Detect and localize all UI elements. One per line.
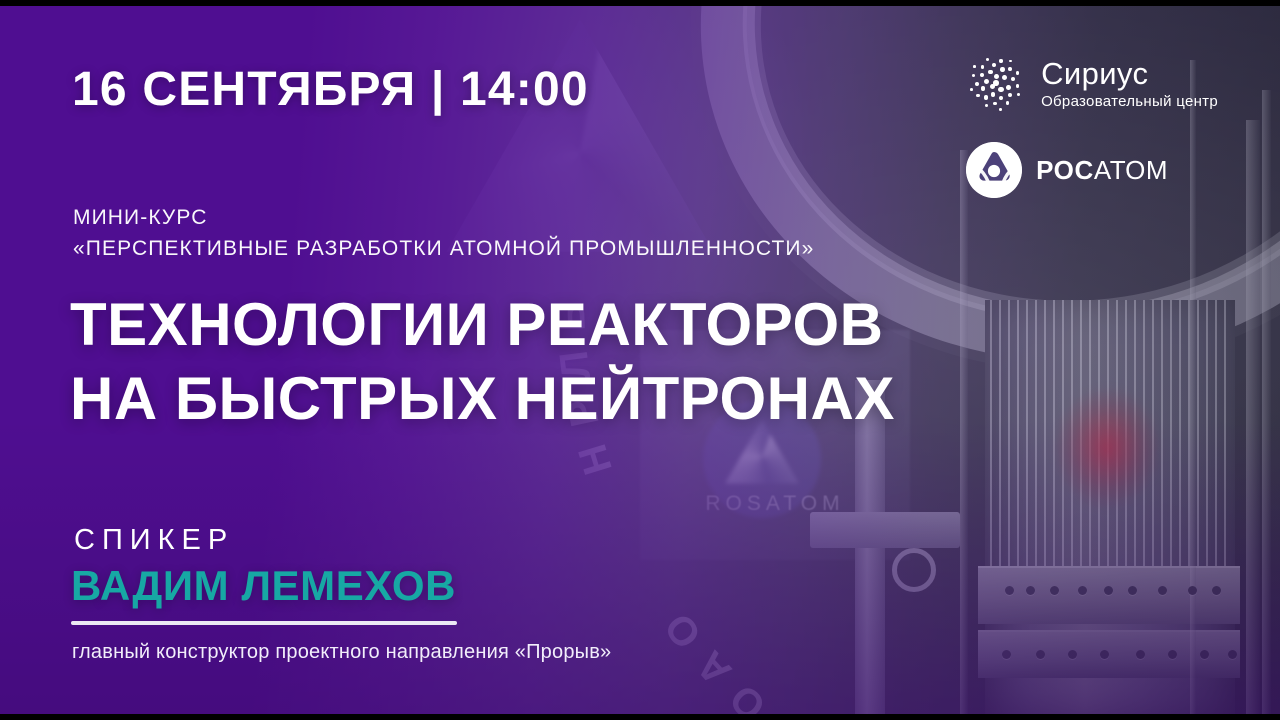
event-date-time: 16 СЕНТЯБРЯ | 14:00 [72,62,589,117]
speaker-role: главный конструктор проектного направлен… [72,641,611,664]
promo-banner: ОАО НРЛЬ ROSATOM 16 СЕНТЯБРЯ | 14:00 МИН… [0,0,1280,720]
headline-line-1: ТЕХНОЛОГИИ РЕАКТОРОВ [70,288,895,362]
course-kicker: МИНИ-КУРС «ПЕРСПЕКТИВНЫЕ РАЗРАБОТКИ АТОМ… [73,202,814,264]
sirius-dots-icon [965,52,1027,114]
logo-group: Сириус Образовательный центр РОСАТОМ [965,52,1218,198]
kicker-line-2: «ПЕРСПЕКТИВНЫЕ РАЗРАБОТКИ АТОМНОЙ ПРОМЫШ… [73,233,814,264]
speaker-divider [71,621,457,625]
letterbox-bottom [0,714,1280,720]
rosatom-logo[interactable]: РОСАТОМ [966,142,1218,198]
sirius-title: Сириус [1041,58,1218,89]
rosatom-word-bold: РОС [1036,155,1094,185]
sirius-wordmark: Сириус Образовательный центр [1041,58,1218,109]
speaker-label: СПИКЕР [74,524,234,557]
speaker-name: ВАДИМ ЛЕМЕХОВ [71,562,456,610]
rosatom-wordmark: РОСАТОМ [1036,155,1168,186]
headline-line-2: НА БЫСТРЫХ НЕЙТРОНАХ [70,362,895,436]
page-title: ТЕХНОЛОГИИ РЕАКТОРОВ НА БЫСТРЫХ НЕЙТРОНА… [70,288,895,436]
letterbox-top [0,0,1280,6]
kicker-line-1: МИНИ-КУРС [73,202,814,233]
rosatom-atom-icon [966,142,1022,198]
sirius-subtitle: Образовательный центр [1041,94,1218,109]
rosatom-word-light: АТОМ [1094,155,1168,185]
sirius-logo[interactable]: Сириус Образовательный центр [965,52,1218,114]
